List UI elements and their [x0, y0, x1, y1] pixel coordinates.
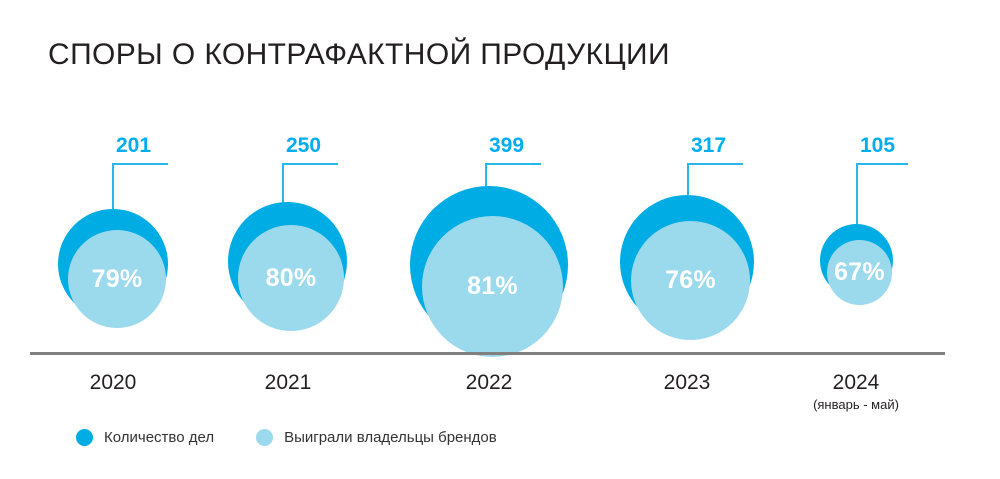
legend-swatch-circle-icon-cases [76, 429, 93, 446]
bubble-outer-2023: 76% [620, 195, 754, 329]
value-label-2024: 105 [860, 134, 895, 158]
percent-label-2021: 80% [266, 266, 317, 291]
leader-line-vertical-2022 [485, 163, 487, 187]
axis-baseline [30, 352, 945, 355]
category-label-2022: 2022 [429, 371, 549, 395]
bubble-inner-2021: 80% [238, 225, 344, 331]
leader-line-vertical-2023 [687, 163, 689, 198]
bubble-inner-2023: 76% [631, 221, 750, 340]
leader-line-horizontal-2022 [485, 163, 541, 165]
value-label-2020: 201 [116, 134, 151, 158]
bubble-inner-2020: 79% [68, 230, 166, 328]
category-label-2021: 2021 [228, 371, 348, 395]
leader-line-horizontal-2023 [687, 163, 743, 165]
category-label-2024: 2024 [796, 371, 916, 395]
leader-line-vertical-2021 [282, 163, 284, 205]
bubble-inner-2022: 81% [422, 216, 563, 357]
infographic-root: СПОРЫ О КОНТРАФАКТНОЙ ПРОДУКЦИИ 201 79% … [0, 0, 1000, 479]
legend-item-brand-owners-won[interactable]: Выиграли владельцы брендов [256, 429, 497, 446]
leader-line-vertical-2024 [856, 163, 858, 225]
bubble-outer-2020: 79% [58, 209, 168, 319]
leader-line-horizontal-2021 [282, 163, 338, 165]
legend-label-cases: Количество дел [104, 429, 214, 446]
bubble-outer-2021: 80% [228, 202, 347, 321]
chart-plot-area: 201 79% 2020 250 80% 2021 39 [0, 0, 1000, 479]
leader-line-horizontal-2024 [856, 163, 908, 165]
category-label-2023: 2023 [627, 371, 747, 395]
value-label-2023: 317 [691, 134, 726, 158]
percent-label-2024: 67% [834, 260, 885, 285]
legend-swatch-circle-icon-brand-owners-won [256, 429, 273, 446]
chart-legend: Количество дел Выиграли владельцы брендо… [76, 429, 497, 446]
legend-label-brand-owners-won: Выиграли владельцы брендов [284, 429, 497, 446]
leader-line-horizontal-2020 [112, 163, 168, 165]
category-sublabel-2024: (январь - май) [796, 397, 916, 412]
percent-label-2022: 81% [467, 274, 518, 299]
value-label-2022: 399 [489, 134, 524, 158]
percent-label-2023: 76% [665, 268, 716, 293]
category-label-2020: 2020 [53, 371, 173, 395]
bubble-inner-2024: 67% [827, 240, 892, 305]
bubble-outer-2022: 81% [410, 186, 568, 344]
bubble-outer-2024: 67% [820, 224, 893, 297]
percent-label-2020: 79% [92, 267, 143, 292]
legend-item-cases[interactable]: Количество дел [76, 429, 214, 446]
value-label-2021: 250 [286, 134, 321, 158]
